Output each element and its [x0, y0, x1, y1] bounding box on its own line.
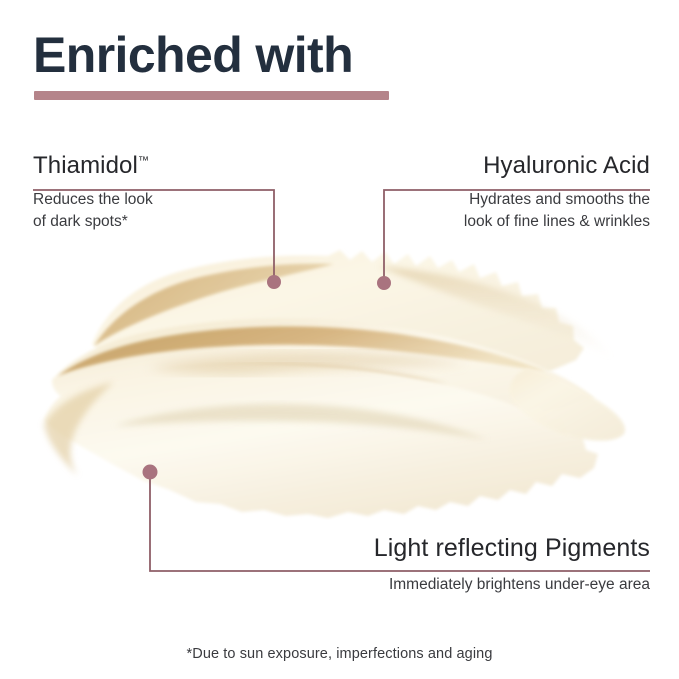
trademark-icon: ™ [138, 155, 149, 167]
infographic-canvas: Enriched with [0, 0, 679, 679]
callout-light-reflecting-pigments-description: Immediately brightens under-eye area [374, 574, 650, 595]
callout-thiamidol-heading: Thiamidol™ [33, 152, 153, 180]
callout-thiamidol-description: Reduces the look of dark spots* [33, 189, 153, 232]
callout-light-reflecting-pigments: Light reflecting Pigments Immediately br… [374, 534, 650, 595]
callout-light-reflecting-pigments-heading: Light reflecting Pigments [374, 534, 650, 564]
callout-thiamidol-heading-text: Thiamidol [33, 152, 138, 179]
callout-hyaluronic-acid-description: Hydrates and smooths the look of fine li… [464, 189, 650, 232]
footnote-text: *Due to sun exposure, imperfections and … [0, 646, 679, 662]
page-title: Enriched with [33, 27, 353, 85]
title-underline-rule [34, 91, 389, 100]
callout-hyaluronic-acid: Hyaluronic Acid Hydrates and smooths the… [464, 152, 650, 232]
callout-thiamidol: Thiamidol™ Reduces the look of dark spot… [33, 152, 153, 232]
callout-hyaluronic-acid-heading: Hyaluronic Acid [464, 152, 650, 180]
cream-swatch-image [28, 248, 660, 520]
